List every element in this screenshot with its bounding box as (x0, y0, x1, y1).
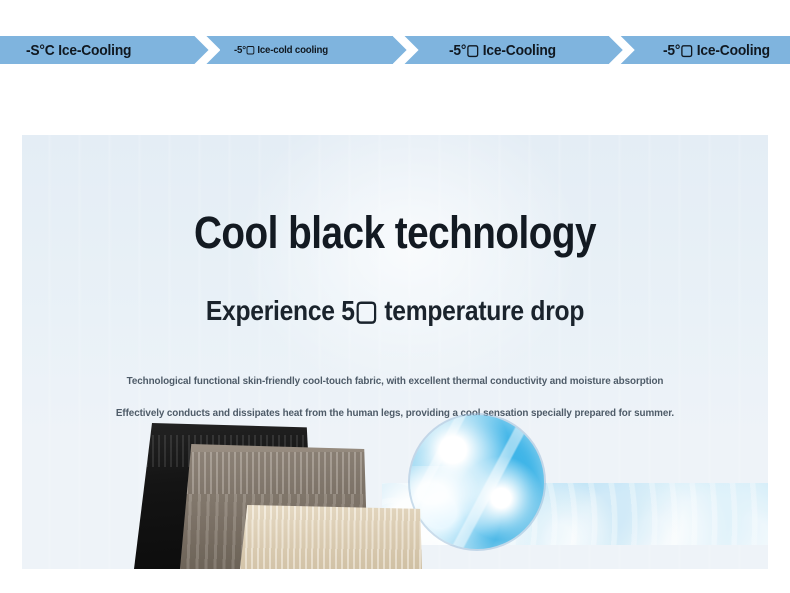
hero-backdrop-glow (231, 135, 589, 404)
banner-chip-2-label: -5°▢ Ice-cold cooling (234, 45, 328, 56)
banner-notch-2-icon (393, 36, 419, 64)
page-title: Cool black technology (74, 210, 716, 255)
product-detail-page: -S°C Ice-Cooling -5°▢ Ice-cold cooling -… (0, 0, 790, 593)
banner-chip-1[interactable]: -S°C Ice-Cooling (0, 36, 150, 64)
banner-spacer-1 (150, 36, 194, 64)
banner-chip-3-label: -5°▢ Ice-Cooling (449, 43, 556, 58)
banner-chip-2[interactable]: -5°▢ Ice-cold cooling (220, 36, 350, 64)
banner-track: -S°C Ice-Cooling -5°▢ Ice-cold cooling -… (0, 36, 790, 64)
banner-notch-1-icon (194, 36, 220, 64)
banner-chip-3[interactable]: -5°▢ Ice-Cooling (419, 36, 579, 64)
banner-chip-1-label: -S°C Ice-Cooling (26, 43, 131, 58)
cooling-feature-banner: -S°C Ice-Cooling -5°▢ Ice-cold cooling -… (0, 36, 790, 64)
banner-spacer-3 (579, 36, 609, 64)
beige-shorts-image (240, 505, 422, 569)
banner-notch-3-icon (609, 36, 635, 64)
hero-paragraph-1: Technological functional skin-friendly c… (44, 375, 745, 387)
banner-chip-4[interactable]: -5°▢ Ice-Cooling (635, 36, 790, 64)
banner-chip-4-label: -5°▢ Ice-Cooling (663, 43, 770, 58)
hero-panel: Cool black technology Experience 5▢ temp… (22, 135, 768, 569)
banner-spacer-2 (351, 36, 393, 64)
hero-subtitle: Experience 5▢ temperature drop (67, 297, 723, 325)
product-image-group (22, 409, 442, 569)
